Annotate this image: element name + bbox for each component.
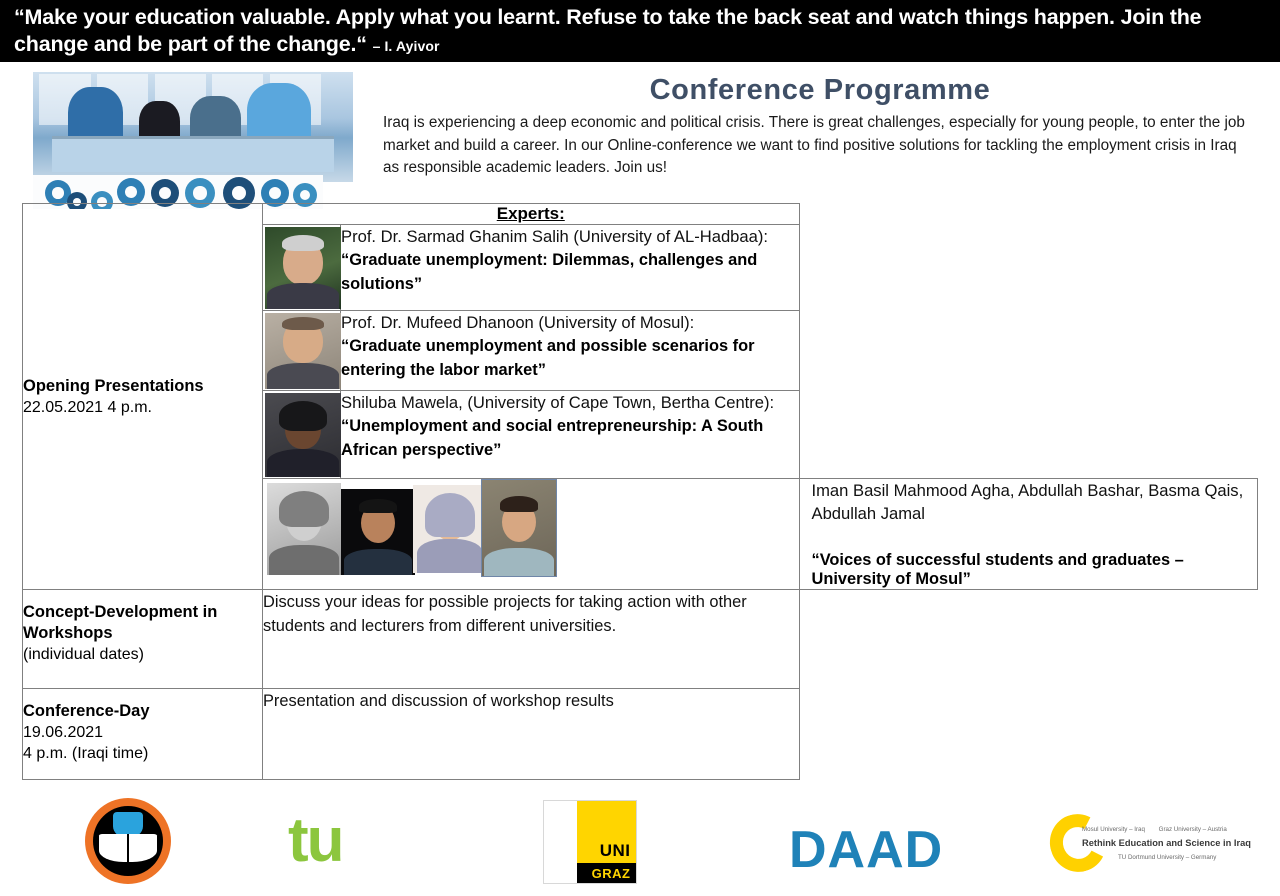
uni-graz-line2: GRAZ (592, 866, 631, 881)
project-title: Rethink Education and Science in Iraq (1082, 838, 1251, 848)
row-date-opening: 22.05.2021 4 p.m. (23, 397, 262, 418)
expert-name: Prof. Dr. Sarmad Ghanim Salih (Universit… (341, 225, 799, 248)
quote-text: “Make your education valuable. Apply wha… (14, 5, 1201, 56)
expert-name: Shiluba Mawela, (University of Cape Town… (341, 391, 799, 414)
university-of-mosul-logo (85, 798, 171, 884)
project-partner-left: Mosul University – Iraq (1082, 826, 1145, 833)
quote-text-block: “Make your education valuable. Apply wha… (14, 4, 1268, 60)
uni-graz-line1: UNI (600, 841, 631, 861)
footer-logos: tu UNI GRAZ DAAD Mosul University – Iraq… (0, 794, 1280, 896)
rethink-education-project-logo: Mosul University – Iraq Graz University … (1046, 806, 1232, 882)
cell-conference-day: Conference-Day 19.06.2021 4 p.m. (Iraqi … (23, 689, 263, 780)
gear-icon (117, 178, 145, 206)
cell-students (263, 479, 800, 590)
page-title: Conference Programme (380, 74, 1260, 107)
cell-expert-info: Prof. Dr. Sarmad Ghanim Salih (Universit… (341, 225, 800, 311)
students-topic: “Voices of successful students and gradu… (812, 551, 1258, 589)
table-row-experts-header: Opening Presentations 22.05.2021 4 p.m. … (23, 204, 1258, 225)
cell-portrait (263, 391, 341, 479)
intro-paragraph: Iraq is experiencing a deep economic and… (383, 112, 1255, 180)
portrait-sarmad-ghanim-salih (265, 227, 341, 309)
quote-attribution: – I. Ayivor (373, 38, 440, 54)
cell-concept-body: Discuss your ideas for possible projects… (263, 590, 800, 689)
students-collaborating-photo (33, 72, 353, 182)
row-label-concept: Concept-Development in Workshops (23, 602, 262, 644)
header-section: Conference Programme Iraq is experiencin… (0, 62, 1280, 202)
project-partners-top: Mosul University – Iraq Graz University … (1082, 826, 1230, 833)
uni-graz-logo: UNI GRAZ (543, 800, 637, 884)
cell-students-info: Iman Basil Mahmood Agha, Abdullah Bashar… (799, 479, 1258, 590)
students-names: Iman Basil Mahmood Agha, Abdullah Bashar… (812, 479, 1258, 525)
portrait-basma-qais (413, 485, 487, 573)
expert-topic: “Graduate unemployment and possible scen… (341, 334, 799, 382)
expert-topic: “Unemployment and social entrepreneurshi… (341, 414, 799, 462)
cell-conference-body: Presentation and discussion of workshop … (263, 689, 800, 780)
cell-portrait (263, 225, 341, 311)
cell-expert-info: Shiluba Mawela, (University of Cape Town… (341, 391, 800, 479)
project-partner-right: Graz University – Austria (1159, 826, 1227, 833)
table-row-conference-day: Conference-Day 19.06.2021 4 p.m. (Iraqi … (23, 689, 1258, 780)
tu-dortmund-logo: tu (288, 810, 343, 872)
row-date-conference: 19.06.2021 4 p.m. (Iraqi time) (23, 722, 262, 764)
experts-header: Experts: (263, 204, 800, 225)
row-label-conference: Conference-Day (23, 701, 262, 722)
portrait-iman-basil-mahmood-agha (267, 483, 341, 575)
portrait-abdullah-jamal (481, 479, 557, 577)
project-partner-bottom: TU Dortmund University – Germany (1118, 854, 1216, 861)
row-label-opening: Opening Presentations (23, 376, 262, 397)
expert-name: Prof. Dr. Mufeed Dhanoon (University of … (341, 311, 799, 334)
programme-table: Opening Presentations 22.05.2021 4 p.m. … (22, 203, 1258, 780)
cell-portrait (263, 311, 341, 391)
expert-topic: “Graduate unemployment: Dilemmas, challe… (341, 248, 799, 296)
cell-expert-info: Prof. Dr. Mufeed Dhanoon (University of … (341, 311, 800, 391)
quote-banner: “Make your education valuable. Apply wha… (0, 0, 1280, 62)
cell-concept-development: Concept-Development in Workshops (indivi… (23, 590, 263, 689)
portrait-mufeed-dhanoon (265, 313, 341, 389)
row-date-concept: (individual dates) (23, 644, 262, 665)
portrait-shiluba-mawela (265, 393, 341, 477)
table-row-concept-development: Concept-Development in Workshops (indivi… (23, 590, 1258, 689)
daad-logo: DAAD (789, 820, 943, 880)
student-photo-strip (263, 479, 799, 579)
portrait-abdullah-bashar (341, 489, 415, 575)
cell-opening-presentations: Opening Presentations 22.05.2021 4 p.m. (23, 204, 263, 590)
